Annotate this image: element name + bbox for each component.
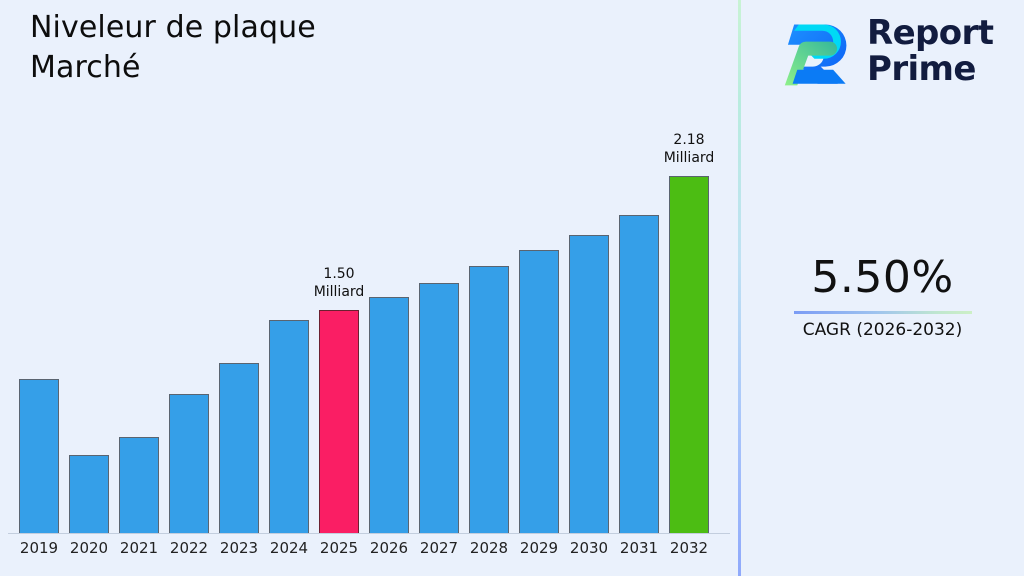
bar-2021[interactable] [119, 437, 159, 533]
x-tick-2023: 2023 [214, 539, 264, 557]
x-tick-2031: 2031 [614, 539, 664, 557]
bar-chart: 2019202020212022202320242025202620272028… [0, 0, 738, 576]
x-axis-line [8, 533, 730, 534]
x-tick-2019: 2019 [14, 539, 64, 557]
x-tick-2026: 2026 [364, 539, 414, 557]
bar-value-label-2025: 1.50 Milliard [287, 266, 391, 301]
cagr-value: 5.50% [741, 252, 1024, 303]
brand-name: Report Prime [867, 15, 993, 87]
bar-2025[interactable] [319, 310, 359, 533]
bar-2028[interactable] [469, 266, 509, 533]
chart-plot-area [0, 110, 730, 534]
bar-2020[interactable] [69, 455, 109, 533]
x-tick-2032: 2032 [664, 539, 714, 557]
x-tick-2029: 2029 [514, 539, 564, 557]
x-tick-2027: 2027 [414, 539, 464, 557]
x-tick-2025: 2025 [314, 539, 364, 557]
bar-2032[interactable] [669, 176, 709, 533]
x-tick-2022: 2022 [164, 539, 214, 557]
x-tick-2021: 2021 [114, 539, 164, 557]
bar-2024[interactable] [269, 320, 309, 533]
report-prime-logo-icon [777, 12, 855, 90]
brand-logo: Report Prime [777, 12, 993, 90]
bar-2026[interactable] [369, 297, 409, 533]
right-panel: Report Prime 5.50% CAGR (2026-2032) [741, 0, 1024, 576]
bar-2029[interactable] [519, 250, 559, 533]
x-tick-2028: 2028 [464, 539, 514, 557]
cagr-caption: CAGR (2026-2032) [741, 320, 1024, 340]
cagr-divider [794, 311, 972, 314]
slide-root: Niveleur de plaque Marché 20192020202120… [0, 0, 1024, 576]
x-tick-2020: 2020 [64, 539, 114, 557]
bar-2031[interactable] [619, 215, 659, 533]
bar-2027[interactable] [419, 283, 459, 533]
bar-2019[interactable] [19, 379, 59, 533]
x-tick-2024: 2024 [264, 539, 314, 557]
bar-2022[interactable] [169, 394, 209, 533]
x-tick-2030: 2030 [564, 539, 614, 557]
bar-2023[interactable] [219, 363, 259, 533]
bar-2030[interactable] [569, 235, 609, 533]
bar-value-label-2032: 2.18 Milliard [637, 132, 741, 167]
cagr-block: 5.50% CAGR (2026-2032) [741, 252, 1024, 340]
